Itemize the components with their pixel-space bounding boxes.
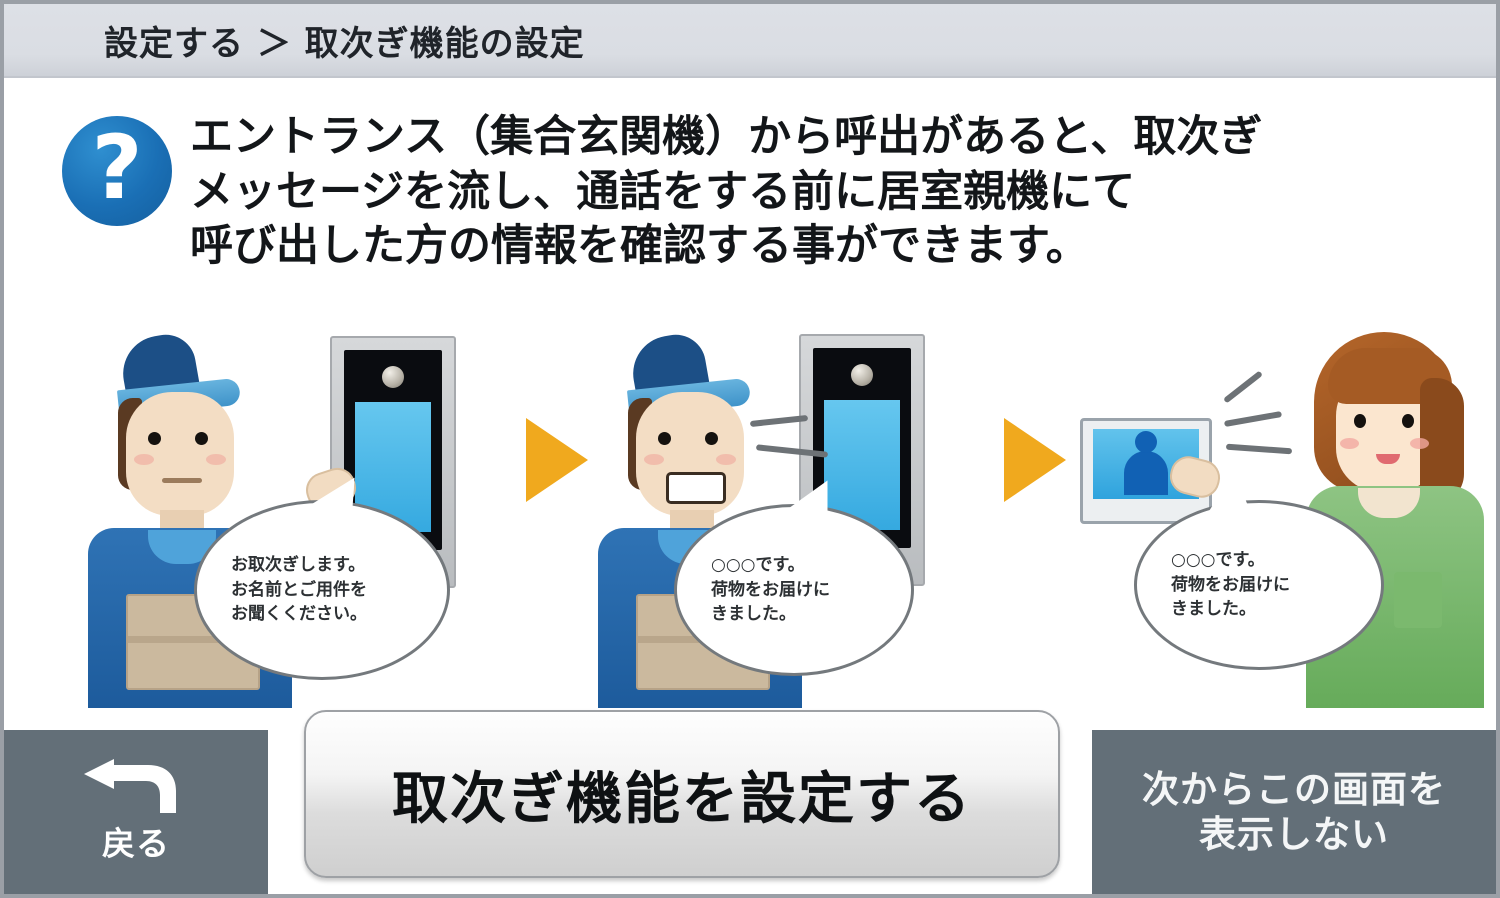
breadcrumb: 設定する ＞ 取次ぎ機能の設定 xyxy=(104,16,585,65)
configure-handover-button[interactable]: 取次ぎ機能を設定する xyxy=(304,710,1060,878)
speech-balloon-1: お取次ぎします。 お名前とご用件を お聞くください。 xyxy=(194,500,450,680)
question-mark-icon: ? xyxy=(62,116,172,226)
visitor-silhouette-icon xyxy=(1124,451,1168,495)
balloon-1-line-3: お聞くください。 xyxy=(197,602,447,627)
description-line-2: メッセージを流し、通話をする前に居室親機にて xyxy=(190,165,1262,220)
back-arrow-icon xyxy=(80,759,192,815)
balloon-2-line-1: ○○○です。 xyxy=(677,553,911,578)
balloon-3-line-1: ○○○です。 xyxy=(1137,548,1381,573)
balloon-1-line-1: お取次ぎします。 xyxy=(197,553,447,578)
description-line-3: 呼び出した方の情報を確認する事ができます。 xyxy=(190,219,1262,274)
balloon-3-line-3: きました。 xyxy=(1137,597,1381,622)
do-not-show-again-button[interactable]: 次からこの画面を 表示しない xyxy=(1092,730,1496,894)
description-line-1: エントランス（集合玄関機）から呼出があると、取次ぎ xyxy=(190,110,1262,165)
speech-balloon-3: ○○○です。 荷物をお届けに きました。 xyxy=(1134,500,1384,670)
balloon-1-line-2: お名前とご用件を xyxy=(197,578,447,603)
bottom-bar: 戻る 取次ぎ機能を設定する 次からこの画面を 表示しない xyxy=(4,730,1496,894)
illustration-panel-resident-monitor: ○○○です。 荷物をお届けに きました。 xyxy=(1074,322,1494,722)
speech-balloon-2: ○○○です。 荷物をお届けに きました。 xyxy=(674,504,914,676)
illustration-panel-entrance-greeting: お取次ぎします。 お名前とご用件を お聞くください。 xyxy=(74,322,524,722)
camera-lens-icon xyxy=(382,366,404,388)
balloon-2-line-3: きました。 xyxy=(677,602,911,627)
do-not-show-again-line-1: 次からこの画面を xyxy=(1142,767,1446,812)
do-not-show-again-line-2: 表示しない xyxy=(1199,812,1389,857)
back-button[interactable]: 戻る xyxy=(4,730,268,894)
illustration-strip: お取次ぎします。 お名前とご用件を お聞くください。 xyxy=(4,322,1496,722)
flow-arrow-icon-2 xyxy=(1004,418,1066,502)
configure-handover-button-label: 取次ぎ機能を設定する xyxy=(392,754,972,835)
flow-arrow-icon-1 xyxy=(526,418,588,502)
camera-lens-icon-2 xyxy=(851,364,873,386)
balloon-3-line-2: 荷物をお届けに xyxy=(1137,573,1381,598)
description-block: ? エントランス（集合玄関機）から呼出があると、取次ぎ メッセージを流し、通話を… xyxy=(4,80,1496,274)
illustration-panel-visitor-speaking: ○○○です。 荷物をお届けに きました。 xyxy=(584,322,1014,722)
settings-screen: 設定する ＞ 取次ぎ機能の設定 ? エントランス（集合玄関機）から呼出があると、… xyxy=(0,0,1500,898)
balloon-2-line-2: 荷物をお届けに xyxy=(677,578,911,603)
header-bar: 設定する ＞ 取次ぎ機能の設定 xyxy=(4,4,1496,78)
description-text: エントランス（集合玄関機）から呼出があると、取次ぎ メッセージを流し、通話をする… xyxy=(190,110,1262,274)
back-button-label: 戻る xyxy=(102,817,170,865)
